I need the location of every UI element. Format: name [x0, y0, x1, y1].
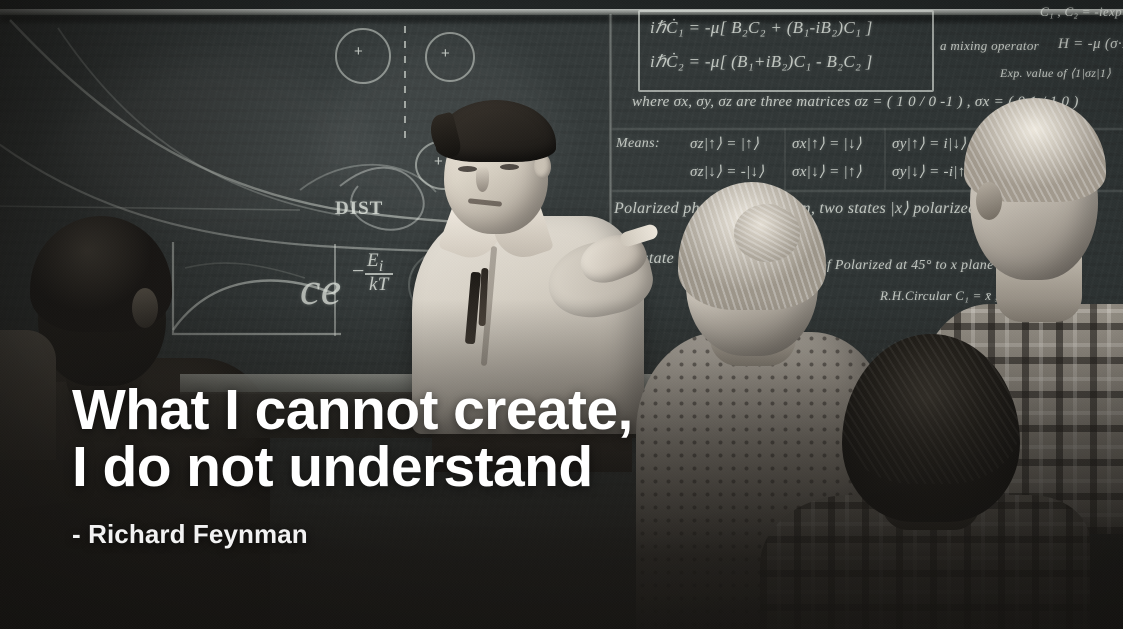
quote-overlay: What I cannot create, I do not understan…: [72, 382, 633, 547]
quote-line-2: I do not understand: [72, 439, 633, 496]
quote-attribution: - Richard Feynman: [72, 521, 633, 547]
quote-image-canvas: + + + + DIST ce − Ei kT iℏĊ₁ = -μ[ B₂C₂ …: [0, 0, 1123, 629]
quote-line-1: What I cannot create,: [72, 382, 633, 439]
